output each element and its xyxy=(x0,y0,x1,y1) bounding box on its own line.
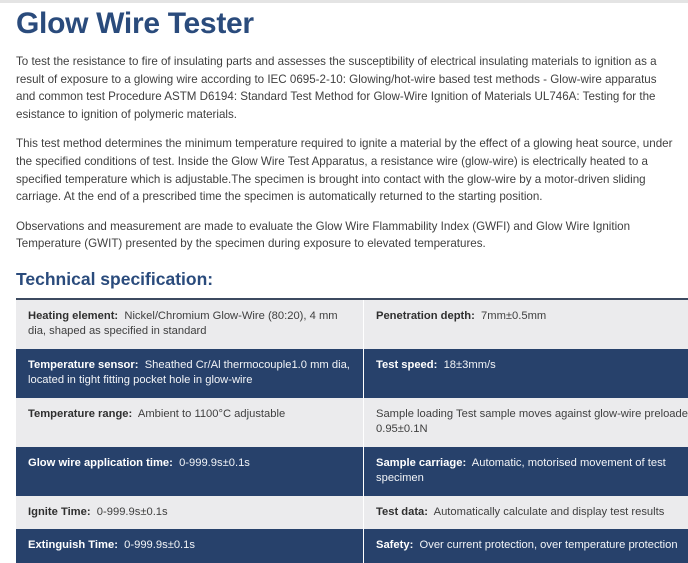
table-cell-right: Sample carriage: Automatic, motorised mo… xyxy=(364,447,688,496)
table-cell-right: Test data: Automatically calculate and d… xyxy=(364,496,688,530)
table-cell-left: Temperature range: Ambient to 1100°C adj… xyxy=(16,398,364,447)
table-cell-left: Glow wire application time: 0-999.9s±0.1… xyxy=(16,447,364,496)
document-page: Glow Wire Tester To test the resistance … xyxy=(0,7,688,563)
page-top-strip xyxy=(0,0,688,3)
table-cell-right: Penetration depth: 7mm±0.5mm xyxy=(364,299,688,349)
spec-label: Ignite Time: xyxy=(28,506,94,518)
section-title-technical-specification: Technical specification: xyxy=(16,269,674,290)
intro-paragraph-1: To test the resistance to fire of insula… xyxy=(16,53,674,123)
spec-value: 0-999.9s±0.1s xyxy=(97,506,168,518)
table-cell-right: Sample loading Test sample moves against… xyxy=(364,398,688,447)
technical-specification-table: Heating element: Nickel/Chromium Glow-Wi… xyxy=(16,298,688,563)
table-cell-left: Heating element: Nickel/Chromium Glow-Wi… xyxy=(16,299,364,349)
table-cell-right: Test speed: 18±3mm/s xyxy=(364,349,688,398)
table-row: Heating element: Nickel/Chromium Glow-Wi… xyxy=(16,299,688,349)
table-row: Glow wire application time: 0-999.9s±0.1… xyxy=(16,447,688,496)
intro-paragraph-3: Observations and measurement are made to… xyxy=(16,218,674,253)
spec-value: Automatically calculate and display test… xyxy=(434,506,665,518)
table-cell-left: Temperature sensor: Sheathed Cr/Al therm… xyxy=(16,349,364,398)
spec-label: Test speed: xyxy=(376,359,440,371)
spec-value: 0-999.9s±0.1s xyxy=(179,457,250,469)
spec-label: Safety: xyxy=(376,539,416,551)
spec-label: Test data: xyxy=(376,506,431,518)
table-row: Temperature range: Ambient to 1100°C adj… xyxy=(16,398,688,447)
spec-label: Extinguish Time: xyxy=(28,539,121,551)
spec-label: Penetration depth: xyxy=(376,310,478,322)
spec-label: Temperature sensor: xyxy=(28,359,142,371)
page-title: Glow Wire Tester xyxy=(16,7,674,41)
spec-value: 18±3mm/s xyxy=(444,359,496,371)
spec-label: Temperature range: xyxy=(28,408,135,420)
spec-value: Over current protection, over temperatur… xyxy=(420,539,678,551)
table-cell-left: Extinguish Time: 0-999.9s±0.1s xyxy=(16,529,364,563)
spec-value: 7mm±0.5mm xyxy=(481,310,546,322)
spec-value: 0-999.9s±0.1s xyxy=(124,539,195,551)
table-cell-left: Ignite Time: 0-999.9s±0.1s xyxy=(16,496,364,530)
spec-label: Sample carriage: xyxy=(376,457,469,469)
table-row: Temperature sensor: Sheathed Cr/Al therm… xyxy=(16,349,688,398)
spec-label: Glow wire application time: xyxy=(28,457,176,469)
table-row: Ignite Time: 0-999.9s±0.1s Test data: Au… xyxy=(16,496,688,530)
spec-value: Sample loading Test sample moves against… xyxy=(376,408,688,436)
spec-label: Heating element: xyxy=(28,310,121,322)
intro-paragraph-2: This test method determines the minimum … xyxy=(16,135,674,205)
spec-value: Ambient to 1100°C adjustable xyxy=(138,408,285,420)
table-row: Extinguish Time: 0-999.9s±0.1s Safety: O… xyxy=(16,529,688,563)
table-cell-right: Safety: Over current protection, over te… xyxy=(364,529,688,563)
